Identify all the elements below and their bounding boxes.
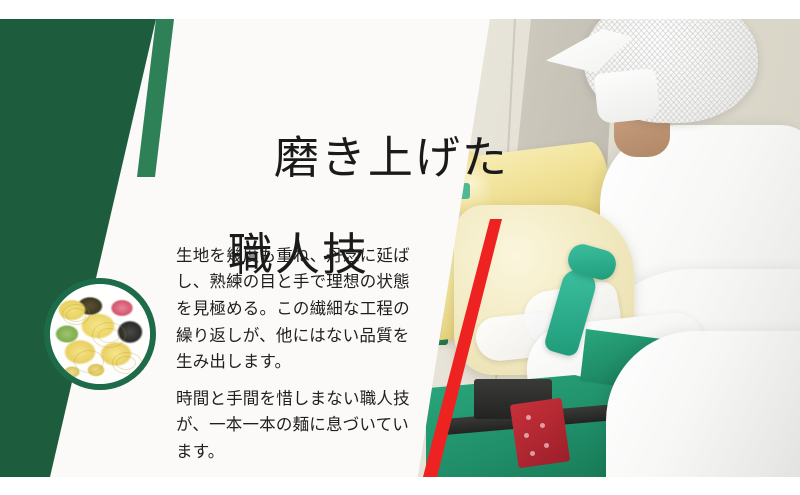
body-paragraph-1: 生地を幾度も重ね、丹念に延ばし、熟練の目と手で理想の状態を見極める。この繊細な工… — [176, 243, 416, 377]
body-paragraph-2: 時間と手間を惜しまない職人技が、一本一本の麺に息づいています。 — [176, 386, 416, 466]
red-part-hole — [544, 443, 549, 448]
content-band: 磨き上げた 職人技 生地を幾度も重ね、丹念に延ばし、熟練の目と手で理想の状態を見… — [0, 19, 800, 477]
slide-canvas: 磨き上げた 職人技 生地を幾度も重ね、丹念に延ばし、熟練の目と手で理想の状態を見… — [0, 0, 800, 495]
red-part-hole — [530, 451, 535, 456]
title-line-1: 磨き上げた — [274, 131, 509, 184]
pasta-photo-image — [50, 284, 150, 384]
pasta-photo-badge — [44, 278, 156, 390]
red-part-hole — [540, 423, 545, 428]
red-part-hole — [526, 415, 531, 420]
red-machine-part — [510, 398, 570, 469]
red-part-hole — [524, 433, 529, 438]
worker-face-mask — [594, 68, 661, 124]
worker-coat-lower — [606, 331, 800, 477]
